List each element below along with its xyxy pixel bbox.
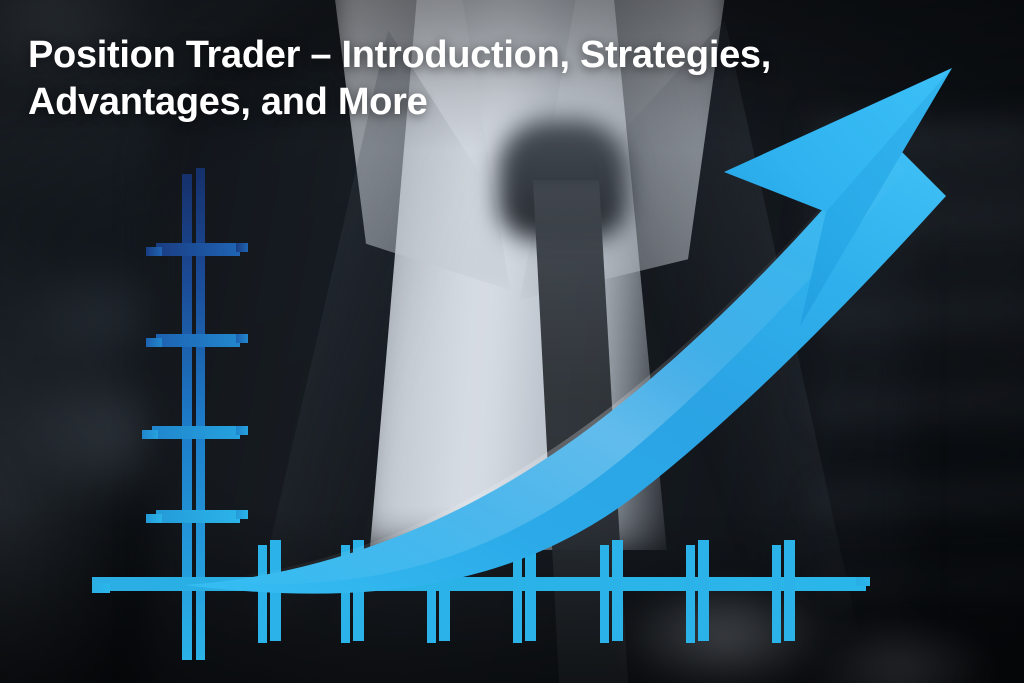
- x-tick-5: [600, 540, 623, 643]
- y-tick-3: [142, 426, 248, 439]
- y-tick-4: [146, 510, 248, 523]
- x-tick-7: [772, 540, 795, 643]
- poster-canvas: Position Trader – Introduction, Strategi…: [0, 0, 1024, 683]
- y-tick-2: [146, 334, 248, 347]
- y-axis-ticks: [142, 243, 248, 523]
- y-tick-1: [146, 243, 248, 256]
- page-title: Position Trader – Introduction, Strategi…: [28, 32, 978, 126]
- growth-arrow: [185, 68, 952, 594]
- x-tick-6: [686, 540, 709, 643]
